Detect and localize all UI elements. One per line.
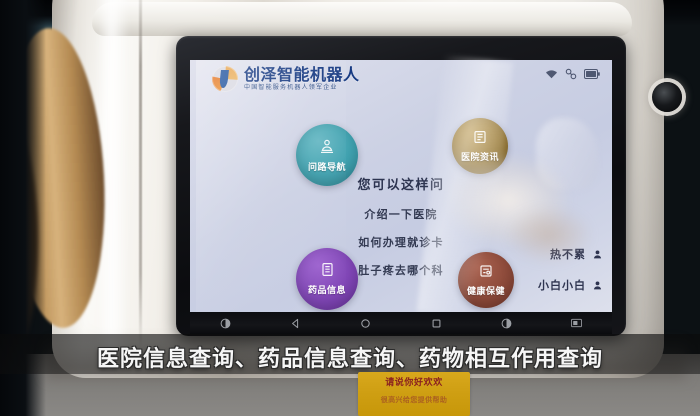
brand-title: 创泽智能机器人 xyxy=(244,67,360,83)
hospital-news-icon xyxy=(473,129,487,148)
battery-icon xyxy=(584,69,600,79)
person-icon xyxy=(593,275,602,294)
brand-logo: 创泽智能机器人 中国智能服务机器人领军企业 xyxy=(212,66,360,92)
person-icon xyxy=(593,244,602,263)
quick-action-hospital-news[interactable]: 医院资讯 xyxy=(452,118,508,174)
robot-top-panel xyxy=(92,2,632,36)
suggestion-item[interactable]: 如何办理就诊卡 xyxy=(358,234,443,250)
wake-word-text: 小白小白 xyxy=(538,277,586,293)
screenshot-icon[interactable] xyxy=(571,318,582,329)
wake-word-item: 热不累 xyxy=(550,244,602,263)
recents-icon[interactable] xyxy=(431,318,442,329)
robot-seam xyxy=(139,0,142,350)
wake-word-text: 热不累 xyxy=(550,246,586,262)
status-bar xyxy=(545,68,600,80)
prompt-title: 您可以这样问 xyxy=(190,174,612,193)
lower-banner-sub-text: 很高兴给您提供帮助 xyxy=(381,395,448,405)
wifi-icon xyxy=(545,69,558,79)
navigation-signpost-icon xyxy=(319,138,335,158)
video-caption: 医院信息查询、药品信息查询、药物相互作用查询 xyxy=(0,341,700,373)
suggestion-item[interactable]: 肚子疼去哪个科 xyxy=(358,262,443,278)
android-navigation-bar[interactable] xyxy=(190,312,612,334)
touchscreen[interactable]: 创泽智能机器人 中国智能服务机器人领军企业 xyxy=(190,60,612,312)
chuangze-phoenix-logo-icon xyxy=(212,66,238,92)
suggestion-item[interactable]: 介绍一下医院 xyxy=(364,206,437,222)
volume-alt-icon[interactable] xyxy=(501,318,512,329)
lower-banner-main-text: 请说你好欢欢 xyxy=(385,375,443,388)
link-icon[interactable] xyxy=(565,68,577,80)
quick-action-label: 药品信息 xyxy=(308,283,346,296)
home-icon[interactable] xyxy=(360,318,371,329)
back-icon[interactable] xyxy=(290,318,301,329)
robot-camera-icon xyxy=(652,82,682,112)
brand-subtitle: 中国智能服务机器人领军企业 xyxy=(244,85,360,91)
screenshot-root: 创泽智能机器人 中国智能服务机器人领军企业 xyxy=(0,0,700,416)
quick-action-label: 医院资讯 xyxy=(461,150,499,163)
volume-icon[interactable] xyxy=(220,318,231,329)
lower-banner: 请说你好欢欢 很高兴给您提供帮助 xyxy=(358,372,470,416)
quick-action-label: 问路导航 xyxy=(308,160,346,173)
wake-word-list: 热不累 小白小白 xyxy=(538,244,602,294)
wake-word-item: 小白小白 xyxy=(538,275,602,294)
quick-action-label: 健康保健 xyxy=(467,284,505,297)
